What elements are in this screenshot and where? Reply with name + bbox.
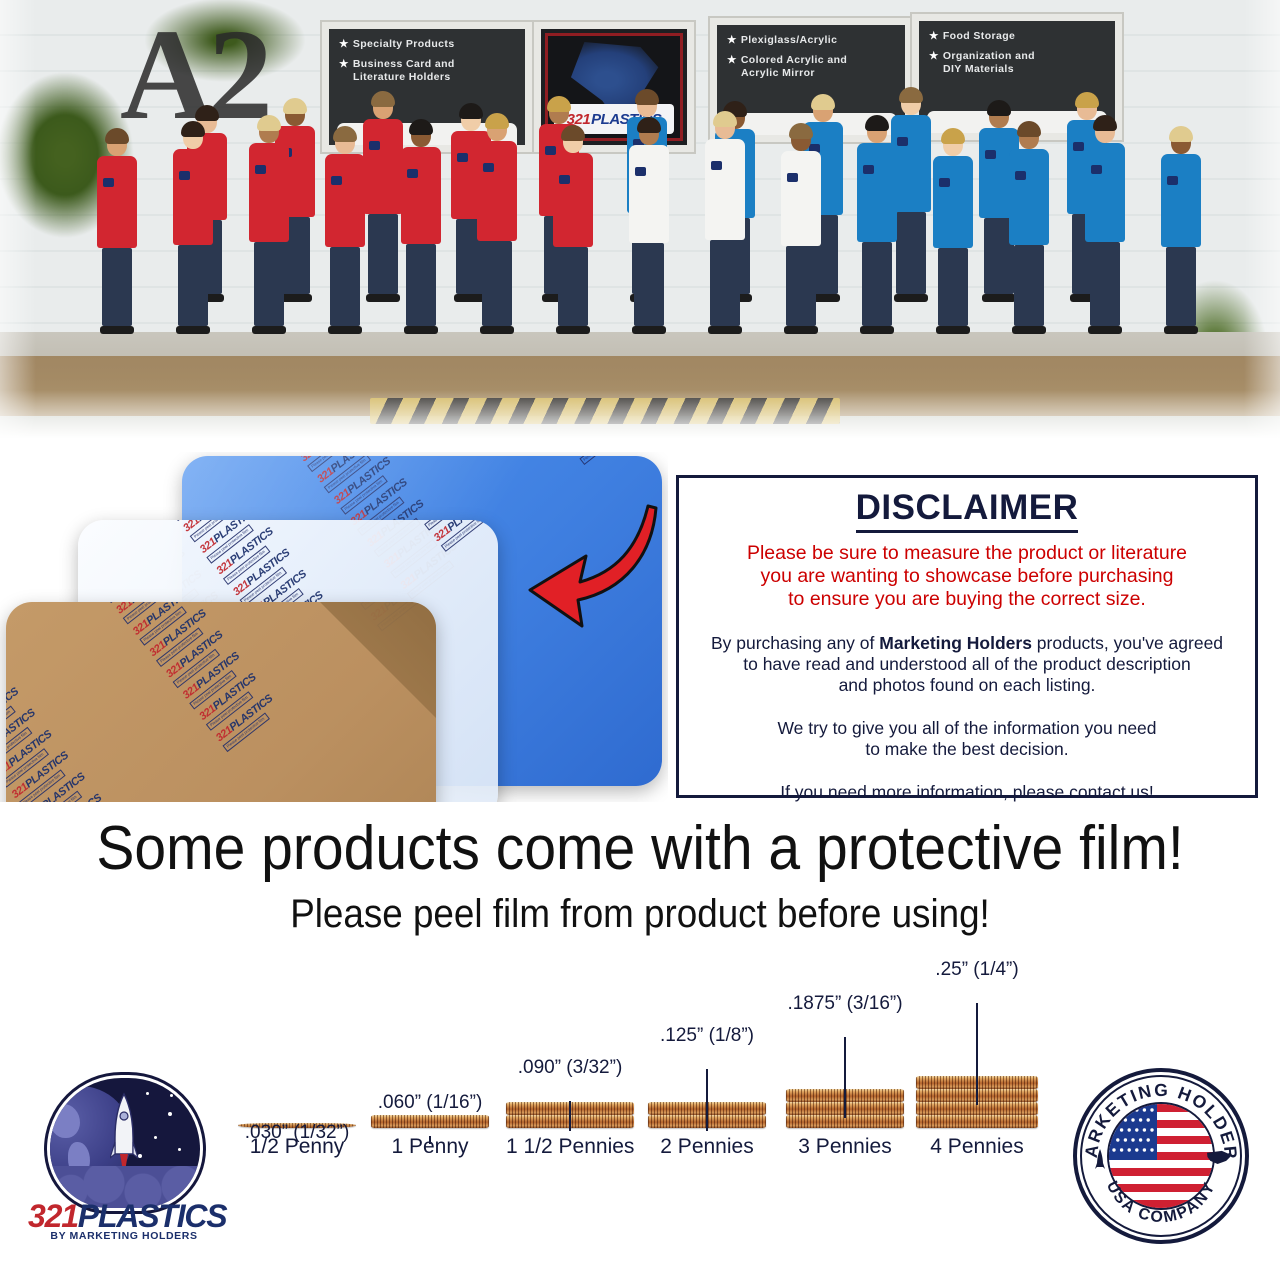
watermark-tag: 321PLASTICSPlease peel protective film <box>182 520 338 542</box>
staff-legs <box>406 244 436 326</box>
watermark-tag: 321PLASTICSPlease peel protective film <box>10 678 169 802</box>
watermark-tag: 321PLASTICSPlease peel protective film <box>6 657 153 788</box>
staff-shoes <box>632 326 666 334</box>
leader-line <box>976 1003 978 1105</box>
staff-shoes <box>252 326 286 334</box>
star-icon <box>170 1094 173 1097</box>
staff-shoes <box>1088 326 1122 334</box>
rocket-globe-icon <box>50 1078 200 1208</box>
staff-legs <box>786 246 816 326</box>
penny-count-label: 2 Pennies <box>648 1135 766 1159</box>
staff-shirt <box>1085 143 1125 242</box>
321plastics-logo: 321PLASTICS BY MARKETING HOLDERS <box>28 1078 220 1246</box>
staff-shoes <box>366 294 400 302</box>
staff-member <box>399 123 443 334</box>
star-icon: ★ <box>339 38 349 50</box>
watermark-tag: 321PLASTICSPlease peel protective film <box>27 699 186 802</box>
staff-member <box>703 115 747 334</box>
photo-left-fade <box>0 0 36 452</box>
staff-member <box>475 117 519 334</box>
watermark-tag: 321PLASTICSPlease peel protective film <box>432 520 498 552</box>
thickness-label: .030” (1/32”) <box>245 1122 350 1144</box>
staff-legs <box>710 240 740 326</box>
staff-shoes <box>708 326 742 334</box>
staff-member <box>1083 119 1127 334</box>
staff-shirt <box>401 147 441 244</box>
staff-shoes <box>1164 326 1198 334</box>
rocket-icon <box>110 1092 138 1176</box>
penny-count-label: 1 1/2 Pennies <box>506 1135 634 1159</box>
protective-film-product-image: 321PLASTICSPlease peel protective film32… <box>0 452 668 802</box>
badge-bottom-text: USA COMPANY <box>1103 1179 1219 1227</box>
staff-legs <box>102 248 132 326</box>
leader-line <box>706 1069 708 1131</box>
staff-shirt <box>1161 154 1201 247</box>
staff-legs <box>254 242 284 326</box>
watermark-tag: 321PLASTICSPlease peel protective film <box>6 602 70 681</box>
staff-legs <box>1014 245 1044 326</box>
staff-legs <box>634 243 664 326</box>
watermark-tag: 321PLASTICSPlease peel protective film <box>43 720 202 802</box>
watermark-tag: 321PLASTICSPlease peel protective film <box>214 621 373 752</box>
star-icon: ★ <box>929 50 939 62</box>
star-icon <box>178 1148 181 1151</box>
watermark-tag: 321PLASTICSPlease peel protective film <box>98 602 257 603</box>
watermark-tag: 321PLASTICSPlease peel protective film <box>6 799 15 802</box>
watermark-tag: 321PLASTICSPlease peel protective film <box>6 602 87 703</box>
staff-shirt <box>477 141 517 241</box>
peel-arrow-icon <box>520 486 660 636</box>
watermark-tag: 321PLASTICSPlease peel protective film <box>6 602 103 724</box>
brand-name: Marketing Holders <box>879 633 1032 653</box>
staff-member <box>95 132 139 334</box>
watermark-tag: 321PLASTICSPlease peel protective film <box>6 635 136 766</box>
staff-legs <box>862 242 892 326</box>
star-icon <box>154 1136 157 1139</box>
marketing-holders-badge: MARKETING HOLDERS USA COMPANY <box>1073 1068 1249 1244</box>
sign-line: ★Food Storage <box>925 30 1109 43</box>
watermark-tag: 321PLASTICSPlease peel protective film <box>131 602 290 646</box>
penny-coin <box>371 1115 489 1128</box>
thickness-label: .1875” (3/16”) <box>787 993 902 1015</box>
staff-shirt <box>1009 149 1049 245</box>
photo-bottom-fade <box>0 390 1280 452</box>
staff-shoes <box>936 326 970 334</box>
staff-member <box>323 130 367 334</box>
chart-column: .060” (1/16”)1 Penny <box>371 1115 489 1159</box>
continent-shape <box>50 1104 80 1138</box>
sign-line: ★Plexiglass/Acrylic <box>723 34 899 47</box>
staff-shoes <box>176 326 210 334</box>
sign-line: ★Organization andDIY Materials <box>925 50 1109 76</box>
staff-shoes <box>1012 326 1046 334</box>
chart-column: .1875” (3/16”)3 Pennies <box>786 1089 904 1159</box>
staff-member <box>551 129 595 334</box>
star-icon <box>146 1092 149 1095</box>
staff-shirt <box>857 143 897 242</box>
star-icon: ★ <box>727 34 737 46</box>
headline-block: Some products come with a protective fil… <box>0 818 1280 934</box>
leader-line <box>844 1037 846 1118</box>
staff-shirt <box>363 119 403 214</box>
headline-primary: Some products come with a protective fil… <box>51 818 1229 880</box>
staff-legs <box>1090 242 1120 326</box>
staff-shoes <box>404 326 438 334</box>
sign-line: ★Colored Acrylic andAcrylic Mirror <box>723 54 899 80</box>
staff-legs <box>558 247 588 326</box>
peeled-corner <box>318 602 436 720</box>
staff-legs <box>1166 247 1196 326</box>
watermark-tag: 321PLASTICSPlease peel protective film <box>165 520 321 521</box>
thickness-label: .090” (3/32”) <box>518 1057 623 1079</box>
team-photo: A2 ★Specialty Products ★Business Card an… <box>0 0 1280 452</box>
watermark-tag: 321PLASTICSPlease peel protective film <box>6 614 120 745</box>
staff-shirt <box>781 151 821 246</box>
thickness-label: .25” (1/4”) <box>935 959 1018 981</box>
headline-secondary: Please peel film from product before usi… <box>51 894 1229 934</box>
staff-legs <box>330 247 360 326</box>
chart-column: .25” (1/4”)4 Pennies <box>916 1076 1038 1159</box>
leader-line <box>569 1101 571 1131</box>
watermark-tag: 321PLASTICSPlease peel protective film <box>215 520 371 585</box>
star-icon <box>168 1112 172 1116</box>
staff-shirt <box>553 153 593 247</box>
sign-line: ★Specialty Products <box>335 38 519 51</box>
staff-shoes <box>556 326 590 334</box>
staff-legs <box>178 245 208 326</box>
disclaimer-title: DISCLAIMER <box>679 490 1255 525</box>
staff-shirt <box>933 156 973 248</box>
logo-tagline: BY MARKETING HOLDERS <box>28 1230 220 1242</box>
disclaimer-box: DISCLAIMER Please be sure to measure the… <box>676 475 1258 798</box>
sign-line: ★Business Card andLiterature Holders <box>335 58 519 84</box>
star-icon: ★ <box>339 58 349 70</box>
disclaimer-warning: Please be sure to measure the product or… <box>693 542 1241 611</box>
chart-column: .125” (1/8”)2 Pennies <box>648 1102 766 1159</box>
staff-legs <box>938 248 968 326</box>
staff-member <box>931 132 975 334</box>
infographic-page: A2 ★Specialty Products ★Business Card an… <box>0 0 1280 1280</box>
watermark-tag: 321PLASTICSPlease peel protective film <box>198 520 354 564</box>
watermark-tag: 321PLASTICSPlease peel protective film <box>198 602 357 731</box>
penny-count-label: 3 Pennies <box>786 1135 904 1159</box>
chart-column: .030” (1/32”)1/2 Penny <box>238 1123 356 1159</box>
disclaimer-contact: If you need more information, please con… <box>689 782 1245 803</box>
thickness-label: .125” (1/8”) <box>660 1025 754 1047</box>
staff-shirt <box>629 145 669 243</box>
disclaimer-agreement: By purchasing any of Marketing Holders p… <box>689 633 1245 696</box>
staff-shirt <box>705 139 745 240</box>
photo-right-fade <box>1244 0 1280 452</box>
staff-member <box>855 119 899 334</box>
staff-member <box>1007 125 1051 334</box>
staff-shoes <box>100 326 134 334</box>
staff-member <box>627 121 671 334</box>
chart-column: .090” (3/32”)1 1/2 Pennies <box>506 1102 634 1159</box>
staff-shoes <box>480 326 514 334</box>
staff-member <box>171 125 215 334</box>
logo-wordmark: 321PLASTICS <box>28 1200 220 1232</box>
watermark-tag: 321PLASTICSPlease peel protective film <box>78 520 137 596</box>
watermark-tag: 321PLASTICSPlease peel protective film <box>165 602 324 688</box>
penny-coin <box>916 1115 1038 1128</box>
star-icon <box>138 1154 142 1158</box>
staff-member <box>1159 130 1203 334</box>
staff-legs <box>896 212 926 294</box>
staff-shoes <box>328 326 362 334</box>
staff-shirt <box>173 149 213 245</box>
staff-member <box>247 119 291 334</box>
watermark-tag: 321PLASTICSPlease peel protective film <box>60 742 219 802</box>
star-icon: ★ <box>727 54 737 66</box>
watermark-tag: 321PLASTICSPlease peel protective film <box>181 602 340 710</box>
badge-text: MARKETING HOLDERS USA COMPANY <box>1073 1068 1249 1244</box>
staff-legs <box>482 241 512 326</box>
watermark-tag: 321PLASTICSPlease peel protective film <box>232 520 388 606</box>
disclaimer-info: We try to give you all of the informatio… <box>689 718 1245 760</box>
staff-shoes <box>894 294 928 302</box>
kraft-paper-film-sheet: 321PLASTICSPlease peel protective film32… <box>6 602 436 802</box>
watermark-tag: 321PLASTICSPlease peel protective film <box>148 602 307 667</box>
penny-stack <box>371 1115 489 1128</box>
badge-top-text: MARKETING HOLDERS <box>1073 1068 1241 1162</box>
penny-count-label: 4 Pennies <box>916 1135 1038 1159</box>
star-icon: ★ <box>929 30 939 42</box>
staff-shirt <box>249 143 289 242</box>
watermark-tag: 321PLASTICSPlease peel protective film <box>115 602 274 624</box>
staff-shoes <box>784 326 818 334</box>
staff-legs <box>368 214 398 294</box>
staff-shirt <box>97 156 137 248</box>
staff-shoes <box>860 326 894 334</box>
staff-shirt <box>325 154 365 247</box>
leader-line <box>429 1136 431 1144</box>
thickness-label: .060” (1/16”) <box>378 1092 483 1114</box>
staff-member <box>779 127 823 334</box>
